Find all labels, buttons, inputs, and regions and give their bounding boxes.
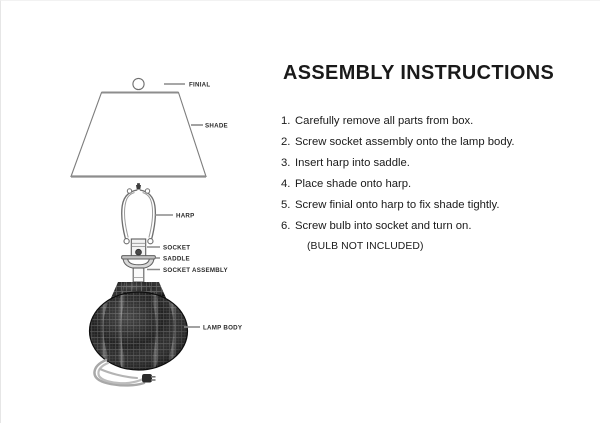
plug-icon xyxy=(142,374,156,383)
step-number: 6. xyxy=(281,216,295,237)
lamp-exploded-diagram: FINIAL SHADE xyxy=(1,1,269,424)
socket-assembly-part xyxy=(133,268,144,282)
label-lamp-body: LAMP BODY xyxy=(203,325,243,332)
step-number: 4. xyxy=(281,174,295,195)
page-title: ASSEMBLY INSTRUCTIONS xyxy=(283,61,582,85)
finial-part xyxy=(133,78,144,89)
instructions-panel: ASSEMBLY INSTRUCTIONS 1. Carefully remov… xyxy=(281,61,591,257)
step-text: Place shade onto harp. xyxy=(295,174,411,195)
step-text: Insert harp into saddle. xyxy=(295,153,410,174)
step-number: 3. xyxy=(281,153,295,174)
instruction-steps-list: 1. Carefully remove all parts from box. … xyxy=(281,111,591,237)
socket-part xyxy=(131,239,145,258)
label-socket-assembly: SOCKET ASSEMBLY xyxy=(163,267,228,274)
label-saddle: SADDLE xyxy=(163,255,190,262)
lamp-shade-part xyxy=(71,93,206,177)
step-number: 5. xyxy=(281,195,295,216)
lamp-body-part xyxy=(90,282,188,370)
instruction-step: 2. Screw socket assembly onto the lamp b… xyxy=(281,132,591,153)
instruction-step: 4. Place shade onto harp. xyxy=(281,174,591,195)
harp-part xyxy=(122,183,156,244)
instruction-step: 5. Screw finial onto harp to fix shade t… xyxy=(281,195,591,216)
bulb-note: (BULB NOT INCLUDED) xyxy=(307,237,591,257)
step-text: Screw socket assembly onto the lamp body… xyxy=(295,132,515,153)
step-number: 1. xyxy=(281,111,295,132)
instruction-step: 1. Carefully remove all parts from box. xyxy=(281,111,591,132)
step-text: Screw finial onto harp to fix shade tigh… xyxy=(295,195,500,216)
label-harp: HARP xyxy=(176,213,195,220)
instruction-step: 3. Insert harp into saddle. xyxy=(281,153,591,174)
instruction-step: 6. Screw bulb into socket and turn on. xyxy=(281,216,591,237)
label-shade: SHADE xyxy=(205,123,228,130)
saddle-part xyxy=(122,256,156,269)
label-socket: SOCKET xyxy=(163,244,190,251)
step-text: Screw bulb into socket and turn on. xyxy=(295,216,471,237)
label-finial: FINIAL xyxy=(189,82,210,89)
step-text: Carefully remove all parts from box. xyxy=(295,111,473,132)
step-number: 2. xyxy=(281,132,295,153)
assembly-instruction-sheet: FINIAL SHADE xyxy=(0,0,600,423)
